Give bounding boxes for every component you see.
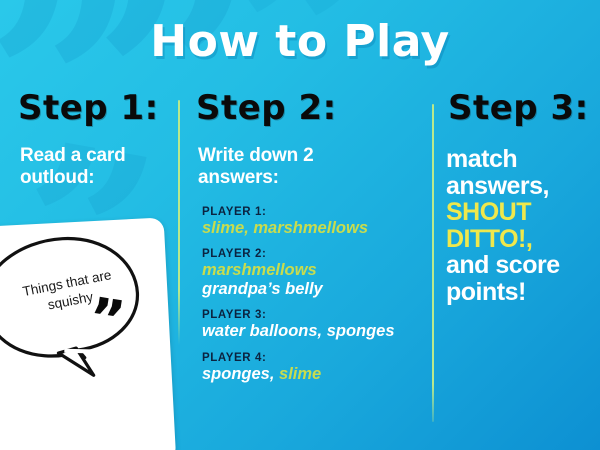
step-3-line-4: points! <box>446 279 592 306</box>
answer-part: grandpa’s belly <box>202 280 323 298</box>
column-divider-2 <box>432 104 434 422</box>
player-answer: marshmellowsgrandpa’s belly <box>202 261 427 298</box>
how-to-play-poster: ” ” ” ” ” How to Play Step 1: Read a car… <box>0 0 600 450</box>
player-label: PLAYER 3: <box>202 309 427 321</box>
player-label: PLAYER 1: <box>202 206 427 218</box>
page-title: How to Play <box>0 16 600 67</box>
step-1-heading: Step 1: <box>18 88 159 128</box>
step-3-line-3: and score <box>446 252 592 279</box>
prompt-card: Things that are squishy ” <box>0 217 176 450</box>
player-label: PLAYER 4: <box>202 352 427 364</box>
player-answer: slime, marshmellows <box>202 219 427 237</box>
player-label: PLAYER 2: <box>202 248 427 260</box>
step-1-subheading: Read a card outloud: <box>20 145 170 189</box>
player-row: PLAYER 1:slime, marshmellows <box>202 206 427 237</box>
step-3-line-1: match <box>446 146 592 173</box>
step-2-subheading: Write down 2 answers: <box>198 145 378 189</box>
player-row: PLAYER 2:marshmellowsgrandpa’s belly <box>202 248 427 298</box>
answer-part: sponges, <box>202 365 274 383</box>
step-3-line-2: answers, <box>446 173 592 200</box>
answer-part: slime <box>279 365 321 383</box>
player-row: PLAYER 3:water balloons, sponges <box>202 309 427 340</box>
step-3-body: match answers, SHOUT DITTO!, and score p… <box>446 146 592 305</box>
step-3-heading: Step 3: <box>448 88 589 128</box>
step-3-shout-line-2: DITTO!, <box>446 226 592 253</box>
column-divider-1 <box>178 100 180 345</box>
player-answer: sponges, slime <box>202 365 427 383</box>
answer-part: slime, marshmellows <box>202 219 368 237</box>
answer-part: marshmellows <box>202 261 317 279</box>
player-answer: water balloons, sponges <box>202 322 427 340</box>
step-3-shout-line-1: SHOUT <box>446 199 592 226</box>
answer-part: water balloons, sponges <box>202 322 395 340</box>
step-2-heading: Step 2: <box>196 88 337 128</box>
player-row: PLAYER 4:sponges, slime <box>202 352 427 383</box>
player-answers-list: PLAYER 1:slime, marshmellowsPLAYER 2:mar… <box>202 206 427 394</box>
